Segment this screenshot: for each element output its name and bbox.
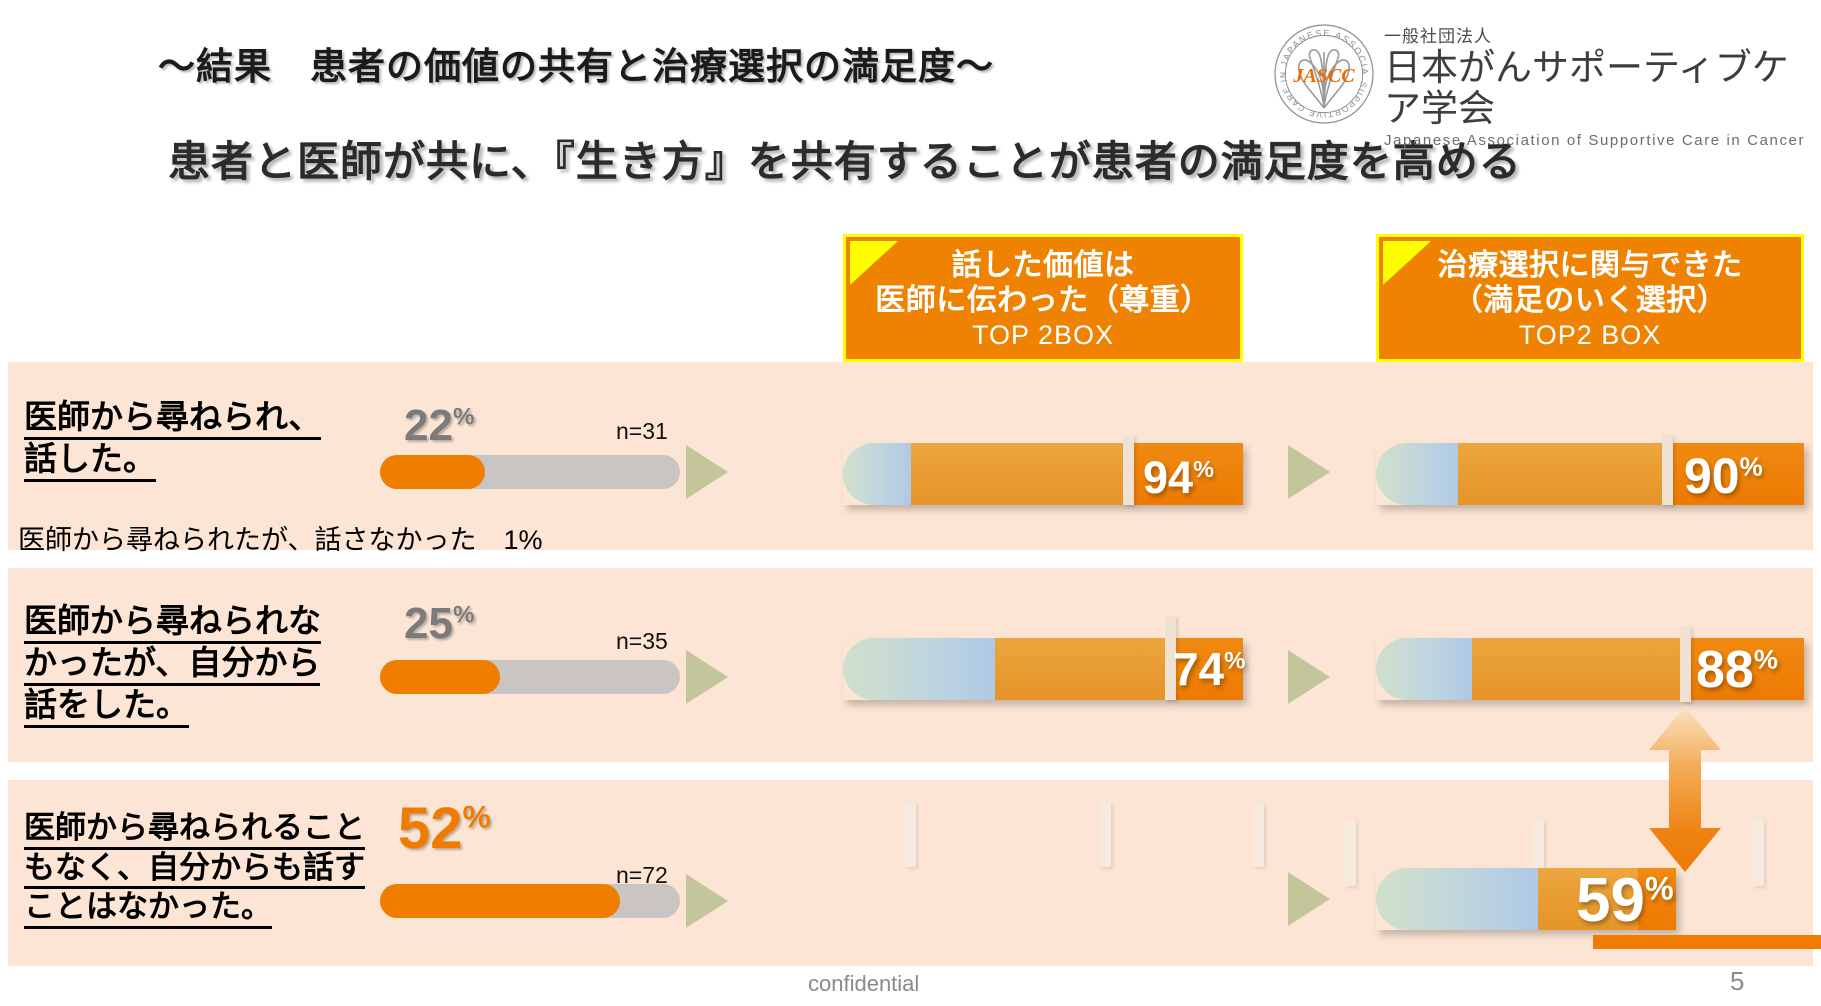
bar-cap [843, 638, 995, 700]
header-line-2: （満足のいく選択） [1379, 284, 1801, 319]
row-label-line: 医師から尋ねられな [24, 602, 321, 644]
arrow-marker-icon [686, 874, 728, 928]
row-percent-never-talked: 52% [398, 800, 491, 858]
slide-root: 〜結果 患者の価値の共有と治療選択の満足度〜 患者と医師が共に、『生き方』を共有… [0, 0, 1821, 1006]
logo-prefix: 一般社団法人 [1384, 28, 1812, 47]
row-label-line: ことはなかった。 [24, 889, 272, 929]
percent-unit: % [453, 403, 475, 430]
stacked-bar-r2c1: 74% [843, 638, 1243, 700]
row-label-line: 医師から尋ねられ、 [24, 398, 321, 440]
bar-tick-placeholder [1345, 820, 1356, 886]
footer-confidential: confidential [808, 971, 919, 997]
row-percent-not-asked-but-talked: 25% [404, 602, 474, 646]
logo-name-ja: 日本がんサポーティブケア学会 [1384, 47, 1812, 130]
percent-value: 52 [398, 796, 463, 861]
row-label-line: もなく、自分からも話す [24, 850, 365, 890]
bar-segment-1 [995, 638, 1169, 700]
sample-size-asked-and-talked: n=31 [616, 418, 668, 445]
bar-value-label: 90% [1684, 451, 1763, 501]
row-label-not-asked-but-talked: 医師から尋ねられな かったが、自分から 話をした。 [24, 602, 321, 728]
column-header-treatment-choice: 治療選択に関与できた （満足のいく選択） TOP2 BOX [1376, 234, 1804, 362]
arrow-marker-icon [1288, 872, 1330, 926]
arrow-marker-icon [1288, 445, 1330, 499]
jascc-emblem-icon: JAPANESE ASSOCIATION OF SUPPORTIVE CARE … [1272, 22, 1376, 126]
bar-tick-placeholder [905, 803, 916, 867]
bar-unit: % [1224, 648, 1245, 675]
bar-value: 94 [1143, 452, 1193, 503]
progress-fill [380, 660, 500, 694]
row-label-line: かったが、自分から [24, 644, 320, 686]
row-label-never-talked: 医師から尋ねられること もなく、自分からも話す ことはなかった。 [24, 810, 365, 929]
bar-segment-1 [1458, 443, 1662, 505]
bar-value-label: 59% [1576, 870, 1674, 932]
stacked-bar-r1c2: 90% [1376, 443, 1804, 505]
bar-divider [1662, 435, 1673, 505]
bar-value: 88 [1696, 641, 1754, 699]
comparison-double-arrow-icon [1633, 700, 1737, 878]
bar-tick-placeholder [1100, 803, 1111, 867]
row-label-line: 医師から尋ねられること [24, 810, 365, 850]
bar-segment-1 [1472, 638, 1682, 700]
jascc-logo: JAPANESE ASSOCIATION OF SUPPORTIVE CARE … [1272, 22, 1812, 122]
bar-unit: % [1193, 456, 1214, 482]
progress-track-never-talked [380, 884, 680, 918]
row-percent-asked-and-talked: 22% [404, 404, 474, 448]
progress-track-not-asked-but-talked [380, 660, 680, 694]
header-line-1: 話した価値は [846, 249, 1240, 284]
bar-cap [1376, 443, 1458, 505]
bar-tick-placeholder [1253, 803, 1264, 867]
bar-cap [843, 443, 911, 505]
row-label-asked-and-talked: 医師から尋ねられ、 話した。 [24, 398, 321, 482]
percent-unit: % [463, 799, 491, 835]
arrow-marker-icon [686, 650, 728, 704]
bar-unit: % [1754, 645, 1778, 675]
header-line-2: 医師に伝わった（尊重） [846, 284, 1240, 319]
row-label-line: 話した。 [24, 440, 156, 482]
logo-text-block: 一般社団法人 日本がんサポーティブケア学会 Japanese Associati… [1384, 28, 1812, 150]
progress-fill [380, 884, 620, 918]
header-line-3: TOP2 BOX [1379, 319, 1801, 351]
arrow-marker-icon [686, 445, 728, 499]
svg-text:JASCC: JASCC [1292, 65, 1355, 87]
bar-divider [1123, 435, 1134, 505]
bar-unit: % [1740, 451, 1763, 481]
bar-segment-1 [911, 443, 1123, 505]
stacked-bar-r2c2: 88% [1376, 638, 1804, 700]
bar-value: 90 [1684, 448, 1740, 504]
logo-name-en: Japanese Association of Supportive Care … [1384, 132, 1812, 150]
header-line-1: 治療選択に関与できた [1379, 249, 1801, 284]
row-label-line: 話をした。 [24, 686, 189, 728]
percent-value: 25 [404, 599, 453, 648]
bar-divider [1680, 626, 1691, 702]
slide-number: 5 [1730, 966, 1744, 997]
bar-cap [1376, 638, 1472, 700]
row-note-asked-and-talked: 医師から尋ねられたが、話さなかった 1% [18, 518, 542, 557]
bar-cap [1376, 868, 1538, 930]
percent-value: 22 [404, 401, 453, 450]
corner-triangle-icon [1383, 241, 1431, 285]
page-title: 〜結果 患者の価値の共有と治療選択の満足度〜 [158, 36, 994, 90]
bar-tick-placeholder [1753, 820, 1764, 886]
corner-triangle-icon [850, 241, 898, 285]
arrow-marker-icon [1288, 650, 1330, 704]
bar-value-label: 94% [1143, 455, 1214, 500]
sample-size-not-asked-but-talked: n=35 [616, 628, 668, 655]
stacked-bar-r1c1: 94% [843, 443, 1243, 505]
header-line-3: TOP 2BOX [846, 319, 1240, 351]
stacked-bar-r3c2: 59% [1376, 868, 1676, 930]
progress-fill [380, 455, 485, 489]
bar-value-label: 74% [1173, 646, 1245, 692]
bar-value: 74 [1173, 643, 1224, 695]
percent-unit: % [453, 601, 475, 628]
bar-value-label: 88% [1696, 644, 1778, 696]
progress-track-asked-and-talked [380, 455, 680, 489]
emphasis-underline [1593, 935, 1821, 949]
page-subtitle: 患者と医師が共に、『生き方』を共有することが患者の満足度を高める [168, 128, 1522, 189]
column-header-value-shared: 話した価値は 医師に伝わった（尊重） TOP 2BOX [843, 234, 1243, 362]
